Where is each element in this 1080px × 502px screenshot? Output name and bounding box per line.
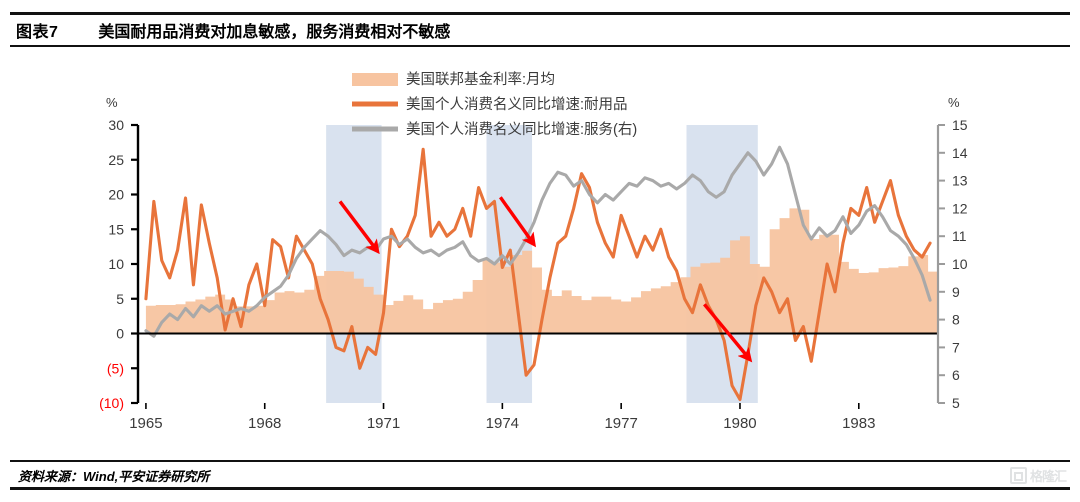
- right-axis-label: 15: [952, 117, 968, 133]
- figure-number: 图表7: [10, 18, 58, 42]
- x-axis-label: 1968: [248, 415, 281, 432]
- footer-rule-bottom: [10, 487, 1070, 490]
- x-axis-label: 1974: [486, 415, 519, 432]
- source-note: 资料来源：Wind,平安证券研究所: [18, 463, 209, 487]
- left-axis-unit-label: %: [106, 95, 118, 110]
- shaded-band-1: [326, 125, 381, 403]
- page-title: 美国耐用品消费对加息敏感，服务消费相对不敏感: [58, 18, 450, 42]
- left-axis-label: 0: [116, 326, 124, 342]
- right-axis-label: 7: [952, 339, 960, 355]
- x-axis-label: 1971: [367, 415, 400, 432]
- right-axis-label: 14: [952, 145, 968, 161]
- legend-label-0: 美国联邦基金利率:月均: [406, 71, 555, 88]
- right-axis-label: 6: [952, 367, 960, 383]
- header-row: 图表7 美国耐用品消费对加息敏感，服务消费相对不敏感: [10, 15, 1070, 45]
- watermark-logo: 格隆汇: [1010, 466, 1066, 485]
- left-axis-label: 15: [108, 221, 124, 237]
- left-axis-label: 20: [108, 187, 124, 203]
- left-axis-label: 25: [108, 152, 124, 168]
- right-axis-label: 10: [952, 256, 968, 272]
- right-axis-label: 5: [952, 395, 960, 411]
- right-axis-label: 8: [952, 312, 960, 328]
- watermark-label: 格隆汇: [1030, 466, 1066, 485]
- left-axis-label: (5): [107, 360, 124, 376]
- left-axis-label: 5: [116, 291, 124, 307]
- x-axis-label: 1980: [723, 415, 756, 432]
- header-rule-bottom: [10, 45, 1070, 47]
- right-axis-label: 11: [952, 228, 967, 244]
- chart-svg: 302520151050(5)(10)151413121110987651965…: [0, 55, 1080, 455]
- legend-label-2: 美国个人消费名义同比增速:服务(右): [406, 121, 637, 138]
- figure-container: 图表7 美国耐用品消费对加息敏感，服务消费相对不敏感 302520151050(…: [0, 0, 1080, 502]
- legend-swatch-area: [352, 73, 398, 86]
- left-axis-label: 10: [108, 256, 124, 272]
- watermark-box-icon: [1010, 467, 1027, 484]
- right-axis-label: 9: [952, 284, 960, 300]
- legend-label-1: 美国个人消费名义同比增速:耐用品: [406, 96, 628, 113]
- footer-rule-top: [10, 460, 1070, 462]
- left-axis-label: (10): [99, 395, 124, 411]
- right-axis-label: 12: [952, 200, 968, 216]
- x-axis-label: 1983: [842, 415, 875, 432]
- right-axis-unit-label: %: [948, 95, 960, 110]
- left-axis-label: 30: [108, 117, 124, 133]
- x-axis-label: 1977: [604, 415, 637, 432]
- x-axis-label: 1965: [129, 415, 162, 432]
- chart-area: 302520151050(5)(10)151413121110987651965…: [0, 55, 1080, 455]
- right-axis-label: 13: [952, 173, 968, 189]
